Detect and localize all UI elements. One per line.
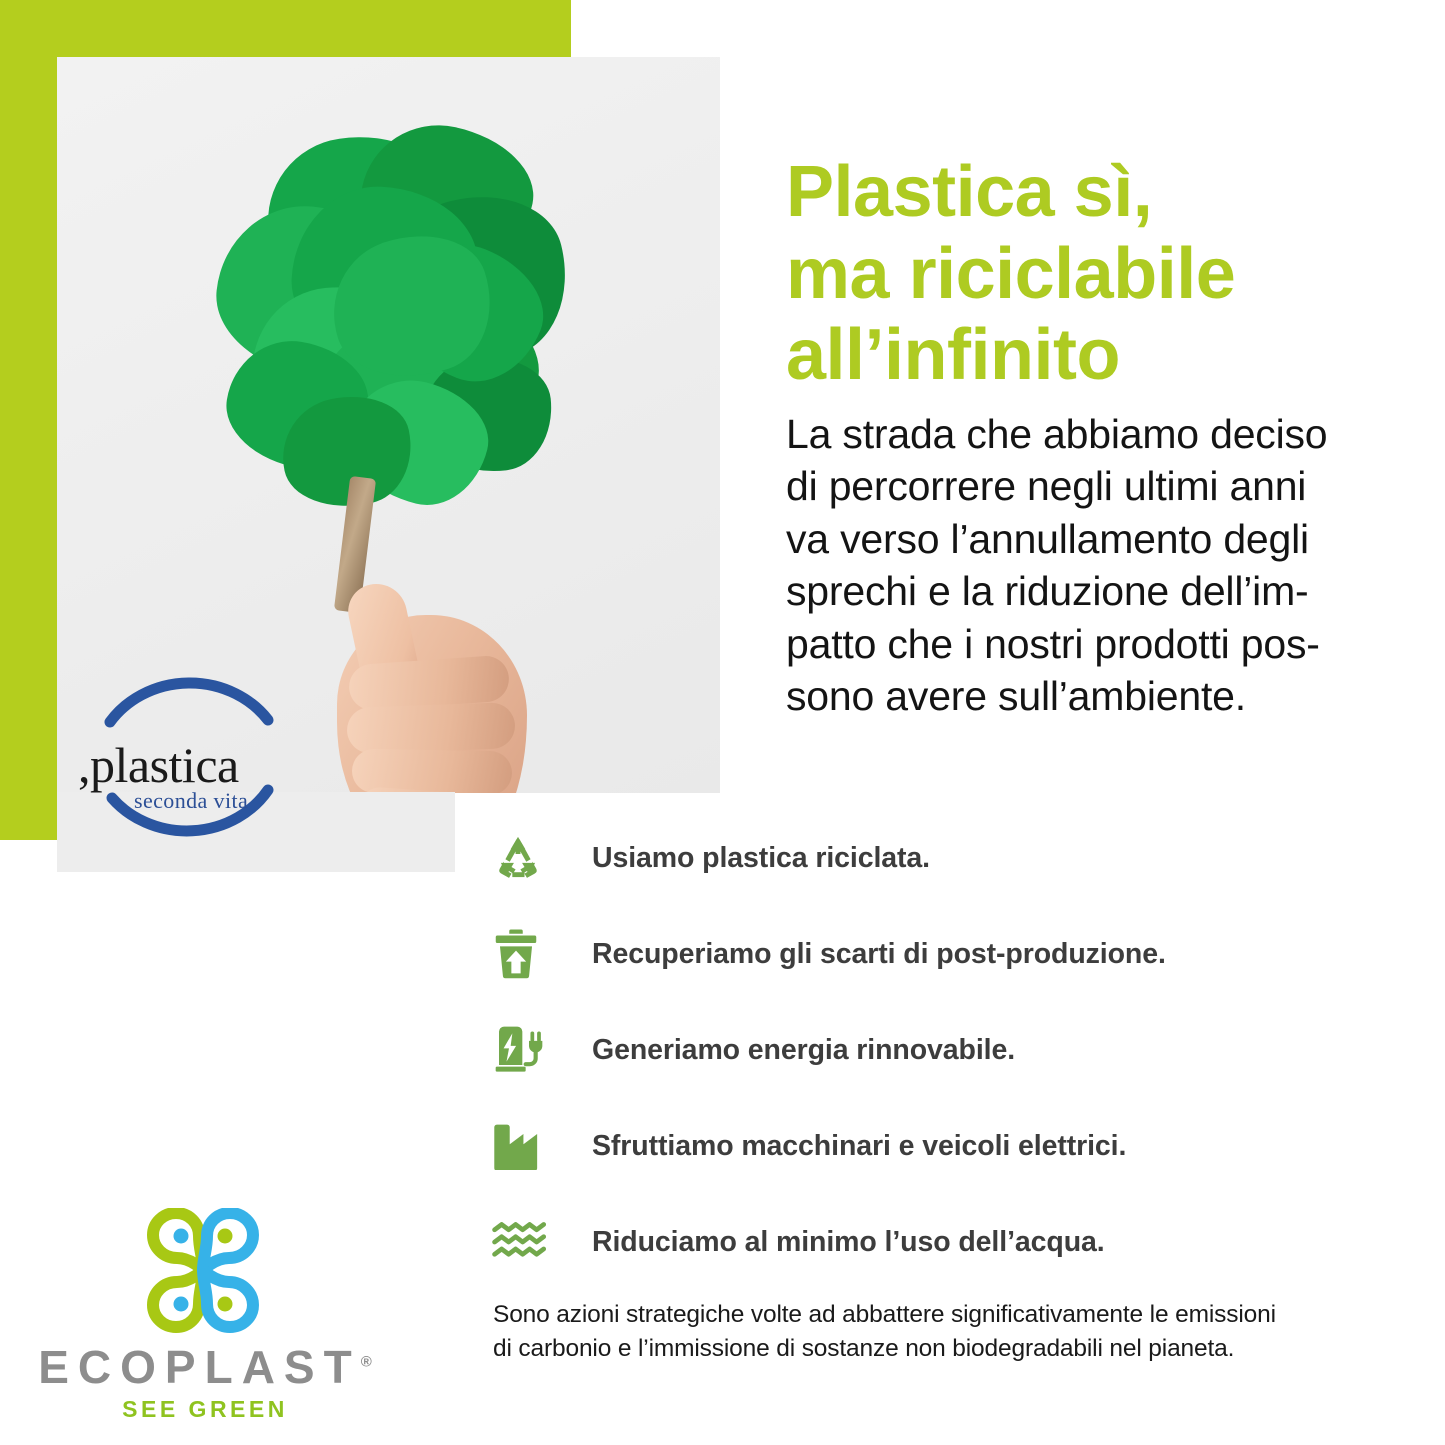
plastic-tree-foliage [197,127,587,527]
poster-canvas: ,plastica seconda vita Plastica sì, ma r… [0,0,1445,1445]
list-item: Generiamo energia rinnovabile. [492,1002,1392,1098]
ev-charger-icon [492,1019,564,1081]
footnote-line-2: di carbonio e l’immissione di sostanze n… [493,1332,1393,1366]
finger-ring [352,749,513,793]
ecoplast-butterfly-icon [133,1208,273,1333]
list-item-label: Generiamo energia rinnovabile. [564,1034,1015,1067]
intro-line-6: sono avere sull’ambiente. [786,670,1396,722]
benefits-list: Usiamo plastica riciclata. Recuperiamo g… [492,810,1392,1290]
headline-line-2: ma riciclabile [786,234,1406,315]
list-item-label: Riduciamo al minimo l’uso dell’acqua. [564,1226,1105,1259]
headline-line-1: Plastica sì, [786,152,1406,233]
ecoplast-tagline: SEE GREEN [25,1396,385,1423]
plastica-wordmark: ,plastica [78,736,293,794]
intro-paragraph: La strada che abbiamo deciso di percorre… [786,408,1396,723]
list-item: Sfruttiamo macchinari e veicoli elettric… [492,1098,1392,1194]
list-item: Riduciamo al minimo l’uso dell’acqua. [492,1194,1392,1290]
registered-trademark-icon: ® [361,1354,372,1371]
headline-line-3: all’infinito [786,315,1406,396]
footnote-line-1: Sono azioni strategiche volte ad abbatte… [493,1298,1393,1332]
plastica-seconda-vita-logo: ,plastica seconda vita [72,658,297,868]
list-item-label: Recuperiamo gli scarti di post-produzion… [564,938,1166,971]
trash-arrow-up-icon [492,923,564,985]
ecoplast-logo: ECOPLAST® SEE GREEN [25,1208,385,1423]
intro-line-2: di percorrere negli ultimi anni [786,460,1396,512]
intro-line-5: patto che i nostri prodotti pos- [786,618,1396,670]
ecoplast-wordmark: ECOPLAST® [25,1340,385,1394]
factory-icon [492,1115,564,1177]
ecoplast-name-text: ECOPLAST [38,1341,360,1393]
page-title: Plastica sì, ma riciclabile all’infinito [786,152,1406,396]
intro-line-3: va verso l’annullamento degli [786,513,1396,565]
plastica-tagline: seconda vita [134,788,248,814]
list-item-label: Usiamo plastica riciclata. [564,842,930,875]
lime-accent-block-top [0,0,571,58]
recycle-icon [492,827,564,889]
footnote-paragraph: Sono azioni strategiche volte ad abbatte… [493,1298,1393,1366]
intro-line-4: sprechi e la riduzione dell’im- [786,565,1396,617]
list-item: Recuperiamo gli scarti di post-produzion… [492,906,1392,1002]
hand [297,555,547,793]
finger-middle [346,702,516,754]
lime-accent-block-left [0,58,57,840]
water-waves-icon [492,1211,564,1273]
intro-line-1: La strada che abbiamo deciso [786,408,1396,460]
list-item-label: Sfruttiamo macchinari e veicoli elettric… [564,1130,1126,1163]
list-item: Usiamo plastica riciclata. [492,810,1392,906]
